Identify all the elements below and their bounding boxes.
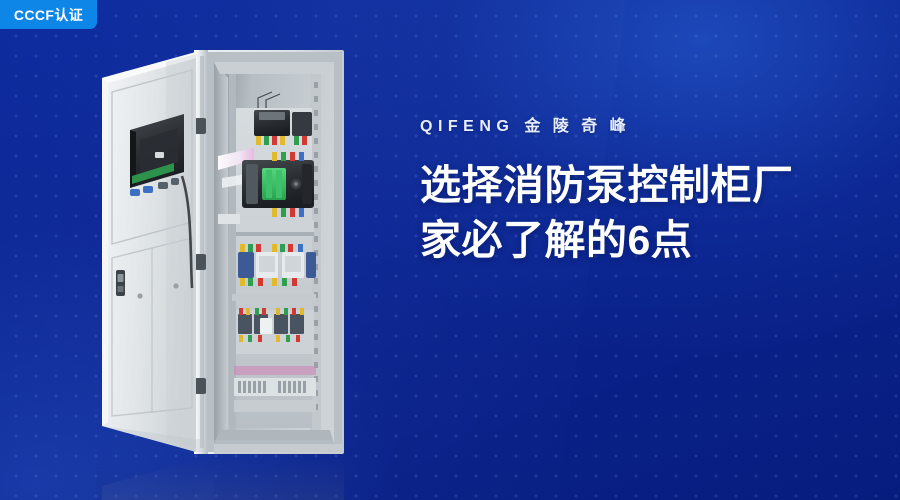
door-screw-right	[173, 283, 178, 288]
headline-line-1: 选择消防泵控制柜厂	[420, 158, 860, 213]
cccf-badge-label: CCCF认证	[14, 5, 83, 25]
relay-terminal-row	[236, 308, 314, 354]
cabinet-body	[204, 50, 344, 454]
cabinet-illustration	[96, 48, 346, 460]
door-hinge-middle	[195, 254, 206, 270]
cabinet-door-post	[194, 50, 208, 454]
main-transfer-switch	[242, 152, 314, 217]
cccf-certification-badge: CCCF认证	[0, 0, 97, 29]
door-hinge-bottom	[195, 378, 206, 394]
brand-name-en: QIFENG	[420, 118, 514, 135]
door-screw-left	[137, 293, 142, 298]
door-lock-handle	[116, 270, 125, 296]
brand-name-cn: 金 陵 奇 峰	[524, 118, 629, 135]
cabinet-door	[102, 52, 196, 452]
headline-line-2: 家必了解的6点	[420, 213, 860, 268]
terminal-block-bottom	[234, 366, 316, 412]
banner-root: CCCF认证	[0, 0, 900, 500]
brand-line: QIFENG金 陵 奇 峰	[420, 112, 860, 136]
product-image-cabinet	[96, 48, 346, 460]
page-title: 选择消防泵控制柜厂 家必了解的6点	[420, 158, 860, 268]
cabinet-base	[102, 426, 344, 452]
copy-block: QIFENG金 陵 奇 峰 选择消防泵控制柜厂 家必了解的6点	[420, 112, 860, 268]
door-hinge-top	[195, 118, 206, 134]
